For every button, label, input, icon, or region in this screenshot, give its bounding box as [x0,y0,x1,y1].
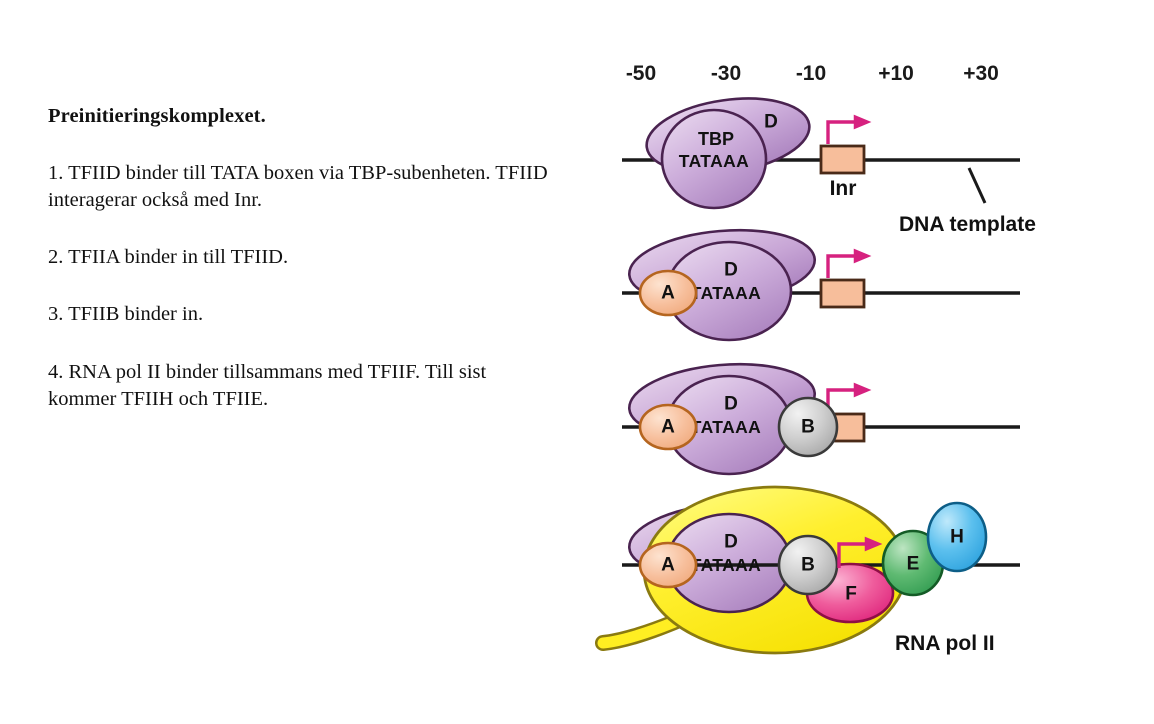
tfiia-label: A [661,555,675,576]
tata-box-label: TATAAA [691,555,761,575]
lesson-text-column: Preinitieringskomplexet. 1. TFIID binder… [48,104,548,413]
tfiia-label: A [661,283,675,304]
rna-pol-ii-label: RNA pol II [895,632,995,655]
step-4-text: 4. RNA pol II binder tillsammans med TFI… [48,359,548,414]
ruler-label--30: -30 [711,62,741,85]
step-2-text: 2. TFIIA binder in till TFIID. [48,244,548,271]
inr-label: Inr [830,177,857,200]
panel-1: D TBP TATAAA Inr DNA template [622,89,1036,236]
tfiib-label: B [801,555,815,576]
tfiid-label: D [764,112,778,133]
transcription-start-arrow [828,122,867,144]
dna-template-label: DNA template [899,213,1036,236]
transcription-start-arrow [828,390,867,412]
tfiih-label: H [950,527,964,548]
tfiid-label: D [724,260,738,281]
tfiif-label: F [845,584,857,605]
tata-box-label: TATAAA [691,417,761,437]
ruler-label-+10: +10 [878,62,914,85]
panel-3: D TATAAA A B [622,357,1020,474]
position-ruler: -50 -30 -10 +10 +30 [626,62,999,85]
inr-box [821,146,864,173]
step-1-text: 1. TFIID binder till TATA boxen via TBP-… [48,160,548,215]
tfiia-label: A [661,417,675,438]
panel-2: D TATAAA A [622,223,1020,340]
page-title: Preinitieringskomplexet. [48,104,548,130]
ruler-label--10: -10 [796,62,826,85]
tfiib-label: B [801,417,815,438]
slide-root: Preinitieringskomplexet. 1. TFIID binder… [0,0,1154,724]
dna-template-leader [969,168,985,203]
tbp-label: TBP [698,129,734,149]
step-3-text: 3. TFIIB binder in. [48,301,548,328]
tfiid-label: D [724,532,738,553]
ruler-label-+30: +30 [963,62,999,85]
figure-svg: -50 -30 -10 +10 +30 D TBP TATAAA [595,40,1154,680]
panel-4: D TATAAA A F B E H [603,487,1020,655]
tfiid-label: D [724,394,738,415]
preinitiation-complex-figure: -50 -30 -10 +10 +30 D TBP TATAAA [595,40,1154,680]
tfiie-label: E [907,554,920,575]
tata-box-label: TATAAA [691,283,761,303]
tata-box-label: TATAAA [679,151,749,171]
inr-box [821,280,864,307]
transcription-start-arrow [828,256,867,278]
ruler-label--50: -50 [626,62,656,85]
